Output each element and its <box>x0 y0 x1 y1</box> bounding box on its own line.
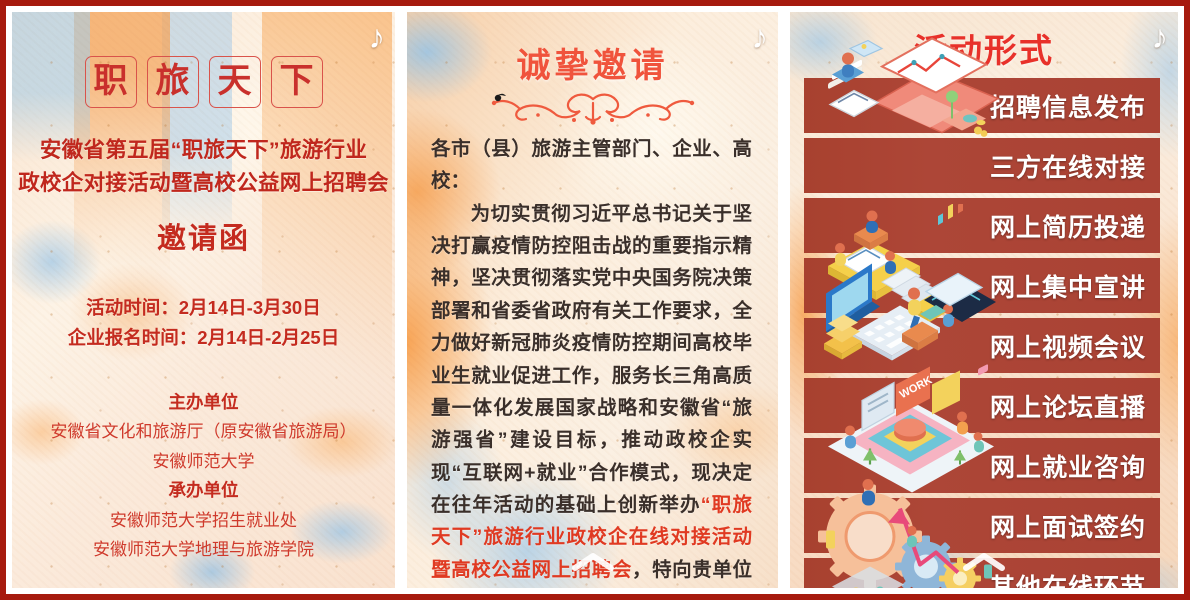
list-item-label: 网上面试签约 <box>990 508 1146 544</box>
list-item[interactable]: 网上简历投递 <box>804 198 1160 253</box>
page-title: 安徽省第五届“职旅天下”旅游行业 政校企对接活动暨高校公益网上招聘会 <box>12 134 395 201</box>
list-item[interactable]: 网上面试签约 <box>804 498 1160 553</box>
list-item[interactable]: 网上视频会议 <box>804 318 1160 373</box>
music-note-icon: ♪ <box>752 20 769 53</box>
poster-frame: ♪ 职 旅 天 下 安徽省第五届“职旅天下”旅游行业 政校企对接活动暨高校公益网… <box>0 0 1190 600</box>
title-line-1: 安徽省第五届“职旅天下”旅游行业 <box>12 134 395 167</box>
body-paragraph: 为切实贯彻习近平总书记关于坚决打赢疫情防控阻击战的重要指示精神，坚决贯彻落实党中… <box>431 198 752 588</box>
list-item-label: 其他在线环节 <box>990 568 1146 589</box>
host-header: 主办单位 <box>12 388 395 418</box>
activity-format-list: 招聘信息发布 三方在线对接 网上简历投递 网上集中宣讲 <box>790 78 1178 588</box>
logo-char-3: 天 <box>209 56 261 108</box>
list-item-label: 网上集中宣讲 <box>990 268 1146 304</box>
panel-activity-formats: ♪ 活动形式 招聘信息发布 三方在线对接 网上简历投递 <box>790 12 1178 588</box>
panel-divider-2 <box>778 12 790 588</box>
floral-divider-icon <box>407 87 778 129</box>
list-item-label: 网上简历投递 <box>990 208 1146 244</box>
letter-title: 诚挚邀请 <box>407 38 778 87</box>
chevron-up-icon[interactable] <box>961 551 1007 578</box>
music-note-icon: ♪ <box>1152 20 1169 53</box>
title-line-2: 政校企对接活动暨高校公益网上招聘会 <box>12 167 395 200</box>
salutation: 各市（县）旅游主管部门、企业、高校： <box>431 133 752 198</box>
music-note-icon: ♪ <box>369 20 386 53</box>
list-item-label: 招聘信息发布 <box>990 88 1146 124</box>
list-item-label: 网上视频会议 <box>990 328 1146 364</box>
chevron-up-icon[interactable] <box>570 551 616 578</box>
host-line-2: 安徽师范大学 <box>12 447 395 476</box>
host-line-1: 安徽省文化和旅游厅（原安徽省旅游局） <box>12 417 395 446</box>
letter-body: 各市（县）旅游主管部门、企业、高校： 为切实贯彻习近平总书记关于坚决打赢疫情防控… <box>431 133 752 588</box>
signup-date: 企业报名时间：2月14日-2月25日 <box>12 323 395 354</box>
logo-char-1: 职 <box>85 56 137 108</box>
list-item-label: 三方在线对接 <box>990 148 1146 184</box>
list-item[interactable]: 网上论坛直播 <box>804 378 1160 433</box>
list-item-label: 网上就业咨询 <box>990 448 1146 484</box>
list-item[interactable]: 三方在线对接 <box>804 138 1160 193</box>
organizations-block: 主办单位 安徽省文化和旅游厅（原安徽省旅游局） 安徽师范大学 承办单位 安徽师范… <box>12 388 395 564</box>
organizer-line-2: 安徽师范大学地理与旅游学院 <box>12 535 395 564</box>
list-item[interactable]: 招聘信息发布 <box>804 78 1160 133</box>
panel-invitation-letter: ♪ 诚挚邀请 <box>407 12 778 588</box>
logo-char-2: 旅 <box>147 56 199 108</box>
list-item[interactable]: 网上集中宣讲 <box>804 258 1160 313</box>
brand-logo: 职 旅 天 下 <box>12 56 395 108</box>
logo-char-4: 下 <box>271 56 323 108</box>
poster-stage: ♪ 职 旅 天 下 安徽省第五届“职旅天下”旅游行业 政校企对接活动暨高校公益网… <box>12 12 1178 588</box>
body-text-part-1: 为切实贯彻习近平总书记关于坚决打赢疫情防控阻击战的重要指示精神，坚决贯彻落实党中… <box>431 203 752 516</box>
organizer-header: 承办单位 <box>12 476 395 506</box>
panel-invitation-cover: ♪ 职 旅 天 下 安徽省第五届“职旅天下”旅游行业 政校企对接活动暨高校公益网… <box>12 12 395 588</box>
panel-divider-1 <box>395 12 407 588</box>
date-block: 活动时间：2月14日-3月30日 企业报名时间：2月14日-2月25日 <box>12 293 395 354</box>
list-item[interactable]: 网上就业咨询 <box>804 438 1160 493</box>
page-subtitle: 邀请函 <box>12 215 395 257</box>
section-title: 活动形式 <box>790 24 1178 72</box>
event-date: 活动时间：2月14日-3月30日 <box>12 293 395 324</box>
list-item-label: 网上论坛直播 <box>990 388 1146 424</box>
organizer-line-1: 安徽师范大学招生就业处 <box>12 506 395 535</box>
